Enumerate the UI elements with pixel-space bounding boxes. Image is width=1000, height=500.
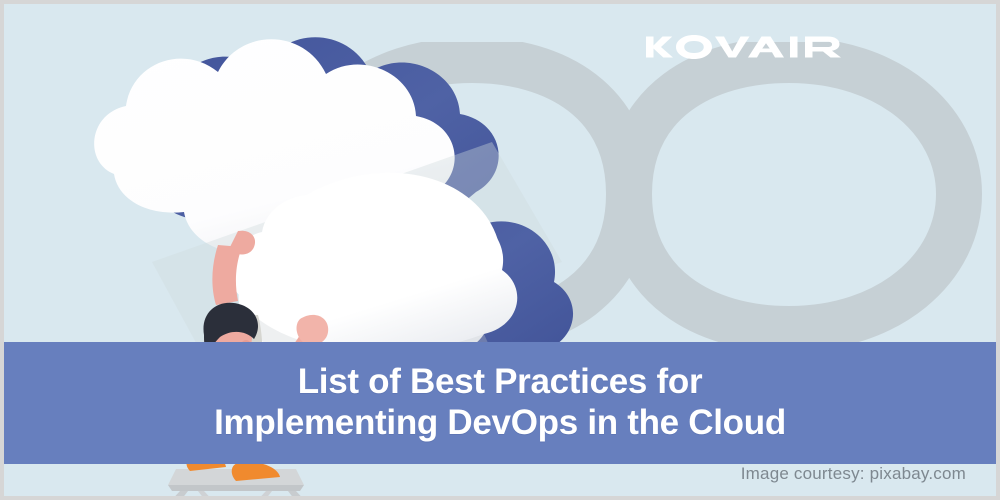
blog-banner-image: List of Best Practices for Implementing … (0, 0, 1000, 500)
page-title-line-2: Implementing DevOps in the Cloud (214, 403, 786, 444)
title-banner: List of Best Practices for Implementing … (4, 342, 996, 464)
kovair-logo[interactable] (643, 30, 868, 64)
image-credit: Image courtesy: pixabay.com (741, 464, 966, 484)
page-title-line-1: List of Best Practices for (298, 362, 703, 403)
